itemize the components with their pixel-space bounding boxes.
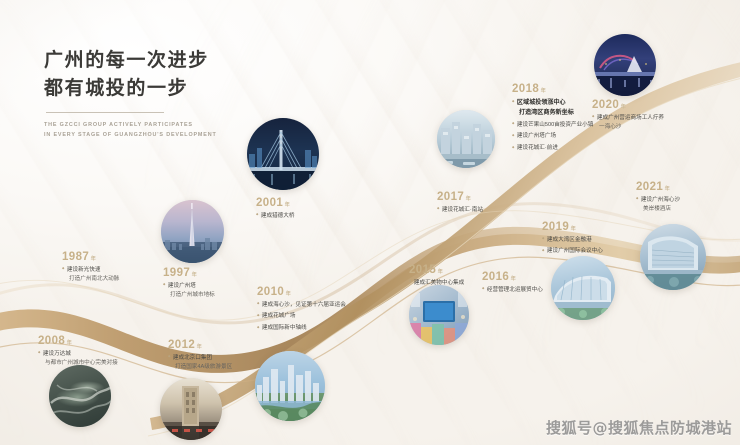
year-label-2019: 2019年 (542, 222, 603, 234)
year-label-2012: 2012年 (168, 340, 232, 352)
headline-line-2: 都有城投的一步 (44, 75, 217, 103)
year-label-2016: 2016年 (482, 272, 543, 284)
node-subline-heading: 打造湾区商务新坐标 (512, 108, 593, 118)
node-text-2010: 2010年 建成海心沙，见证第十六届亚运会 建成花城广场 建成国际新中轴线 (257, 287, 346, 334)
year-label-2010: 2010年 (257, 287, 346, 299)
node-bullet-heading: 区域城投领涨中心 (512, 98, 593, 109)
node-subline: 美岸楼酒店 (636, 205, 680, 215)
headline-english-2: IN EVERY STAGE OF GUANGZHOU'S DEVELOPMEN… (44, 130, 217, 140)
headline-line-1: 广州的每一次进步 (44, 47, 217, 75)
year-label-2015: 2015年 (409, 265, 464, 277)
node-text-2012: 2012年 建成北京口集团 打造国家4A级旅游景区 (168, 340, 232, 373)
node-text-2019: 2019年 建成大湾区金融港 建设广州国际会议中心 (542, 222, 603, 257)
node-bullet: 建设广州塔广场 (512, 132, 593, 142)
node-bullet: 建设广州国际会议中心 (542, 247, 603, 257)
node-subline: 打造广州城市地标 (163, 291, 215, 301)
node-bullet: 建成猎德大桥 (256, 212, 294, 222)
node-bullet: 建成国际新中轴线 (257, 324, 346, 334)
headline-divider (46, 112, 164, 113)
node-subline: 打造国家4A级旅游景区 (168, 363, 232, 373)
headline-block: 广州的每一次进步 都有城投的一步 THE GZCCI GROUP ACTIVEL… (44, 47, 217, 140)
headline-english-1: THE GZCCI GROUP ACTIVELY PARTICIPATES (44, 120, 217, 130)
photo-heritage-street[interactable] (160, 378, 222, 440)
watermark-text: 搜狐号@搜狐焦点防城港站 (546, 417, 732, 438)
node-bullet: 建设广州塔 (163, 282, 215, 292)
node-bullet: 建成大湾区金融港 (542, 236, 603, 246)
year-label-2020: 2020年 (592, 100, 664, 112)
node-bullet: 建设广州海心沙 (636, 196, 680, 206)
node-bullet: 建设花城汇·前进 (512, 144, 593, 154)
photo-station-plaza[interactable] (437, 110, 495, 168)
year-label-2001: 2001年 (256, 198, 294, 210)
node-subline: 与都市广州城市中心完美对接 (38, 359, 118, 369)
year-label-1987: 1987年 (62, 252, 119, 264)
node-text-2016: 2016年 经营管理北运展贸中心 (482, 272, 543, 295)
node-text-2017: 2017年 建设花城汇·南站 (437, 192, 483, 215)
node-bullet: 建成海心沙，见证第十六届亚运会 (257, 301, 346, 311)
node-subline: 打造广州南北大动脉 (62, 275, 119, 285)
node-bullet: 建设万达城 (38, 350, 118, 360)
photo-canton-tower[interactable] (161, 200, 224, 263)
photo-shopping-mall[interactable] (409, 285, 469, 345)
photo-riverside-hotel[interactable] (640, 224, 706, 290)
year-label-2008: 2008年 (38, 336, 118, 348)
node-text-2018: 2018年 区域城投领涨中心 打造湾区商务新坐标 建设芒果山500亩投资产业小镇… (512, 84, 593, 154)
node-bullet: 建设新光快速 (62, 266, 119, 276)
node-bullet: 经营管理北运展贸中心 (482, 286, 543, 296)
year-label-2018: 2018年 (512, 84, 593, 96)
photo-convention-center[interactable] (551, 256, 615, 320)
node-bullet: 建成北京口集团 (168, 354, 232, 364)
node-text-2020: 2020年 建成广州营运商场工人疗养 一海心沙 (592, 100, 664, 133)
year-label-2017: 2017年 (437, 192, 483, 204)
photo-road-aerial[interactable] (49, 365, 111, 427)
node-subline: 一海心沙 (592, 123, 664, 133)
node-text-2001: 2001年 建成猎德大桥 (256, 198, 294, 221)
photo-haixinsha-night[interactable] (594, 34, 656, 96)
node-bullet: 建成花城广场 (257, 312, 346, 322)
node-bullet: 建设花城汇·南站 (437, 206, 483, 216)
photo-city-skyline[interactable] (255, 351, 325, 421)
photo-liede-bridge[interactable] (247, 118, 319, 190)
node-text-2008: 2008年 建设万达城 与都市广州城市中心完美对接 (38, 336, 118, 369)
node-text-1987: 1987年 建设新光快速 打造广州南北大动脉 (62, 252, 119, 285)
year-label-1997: 1997年 (163, 268, 215, 280)
year-label-2021: 2021年 (636, 182, 680, 194)
node-bullet: 建设芒果山500亩投资产业小镇 (512, 121, 593, 131)
node-text-1997: 1997年 建设广州塔 打造广州城市地标 (163, 268, 215, 301)
node-bullet: 建成广州营运商场工人疗养 (592, 114, 664, 124)
node-text-2021: 2021年 建设广州海心沙 美岸楼酒店 (636, 182, 680, 215)
